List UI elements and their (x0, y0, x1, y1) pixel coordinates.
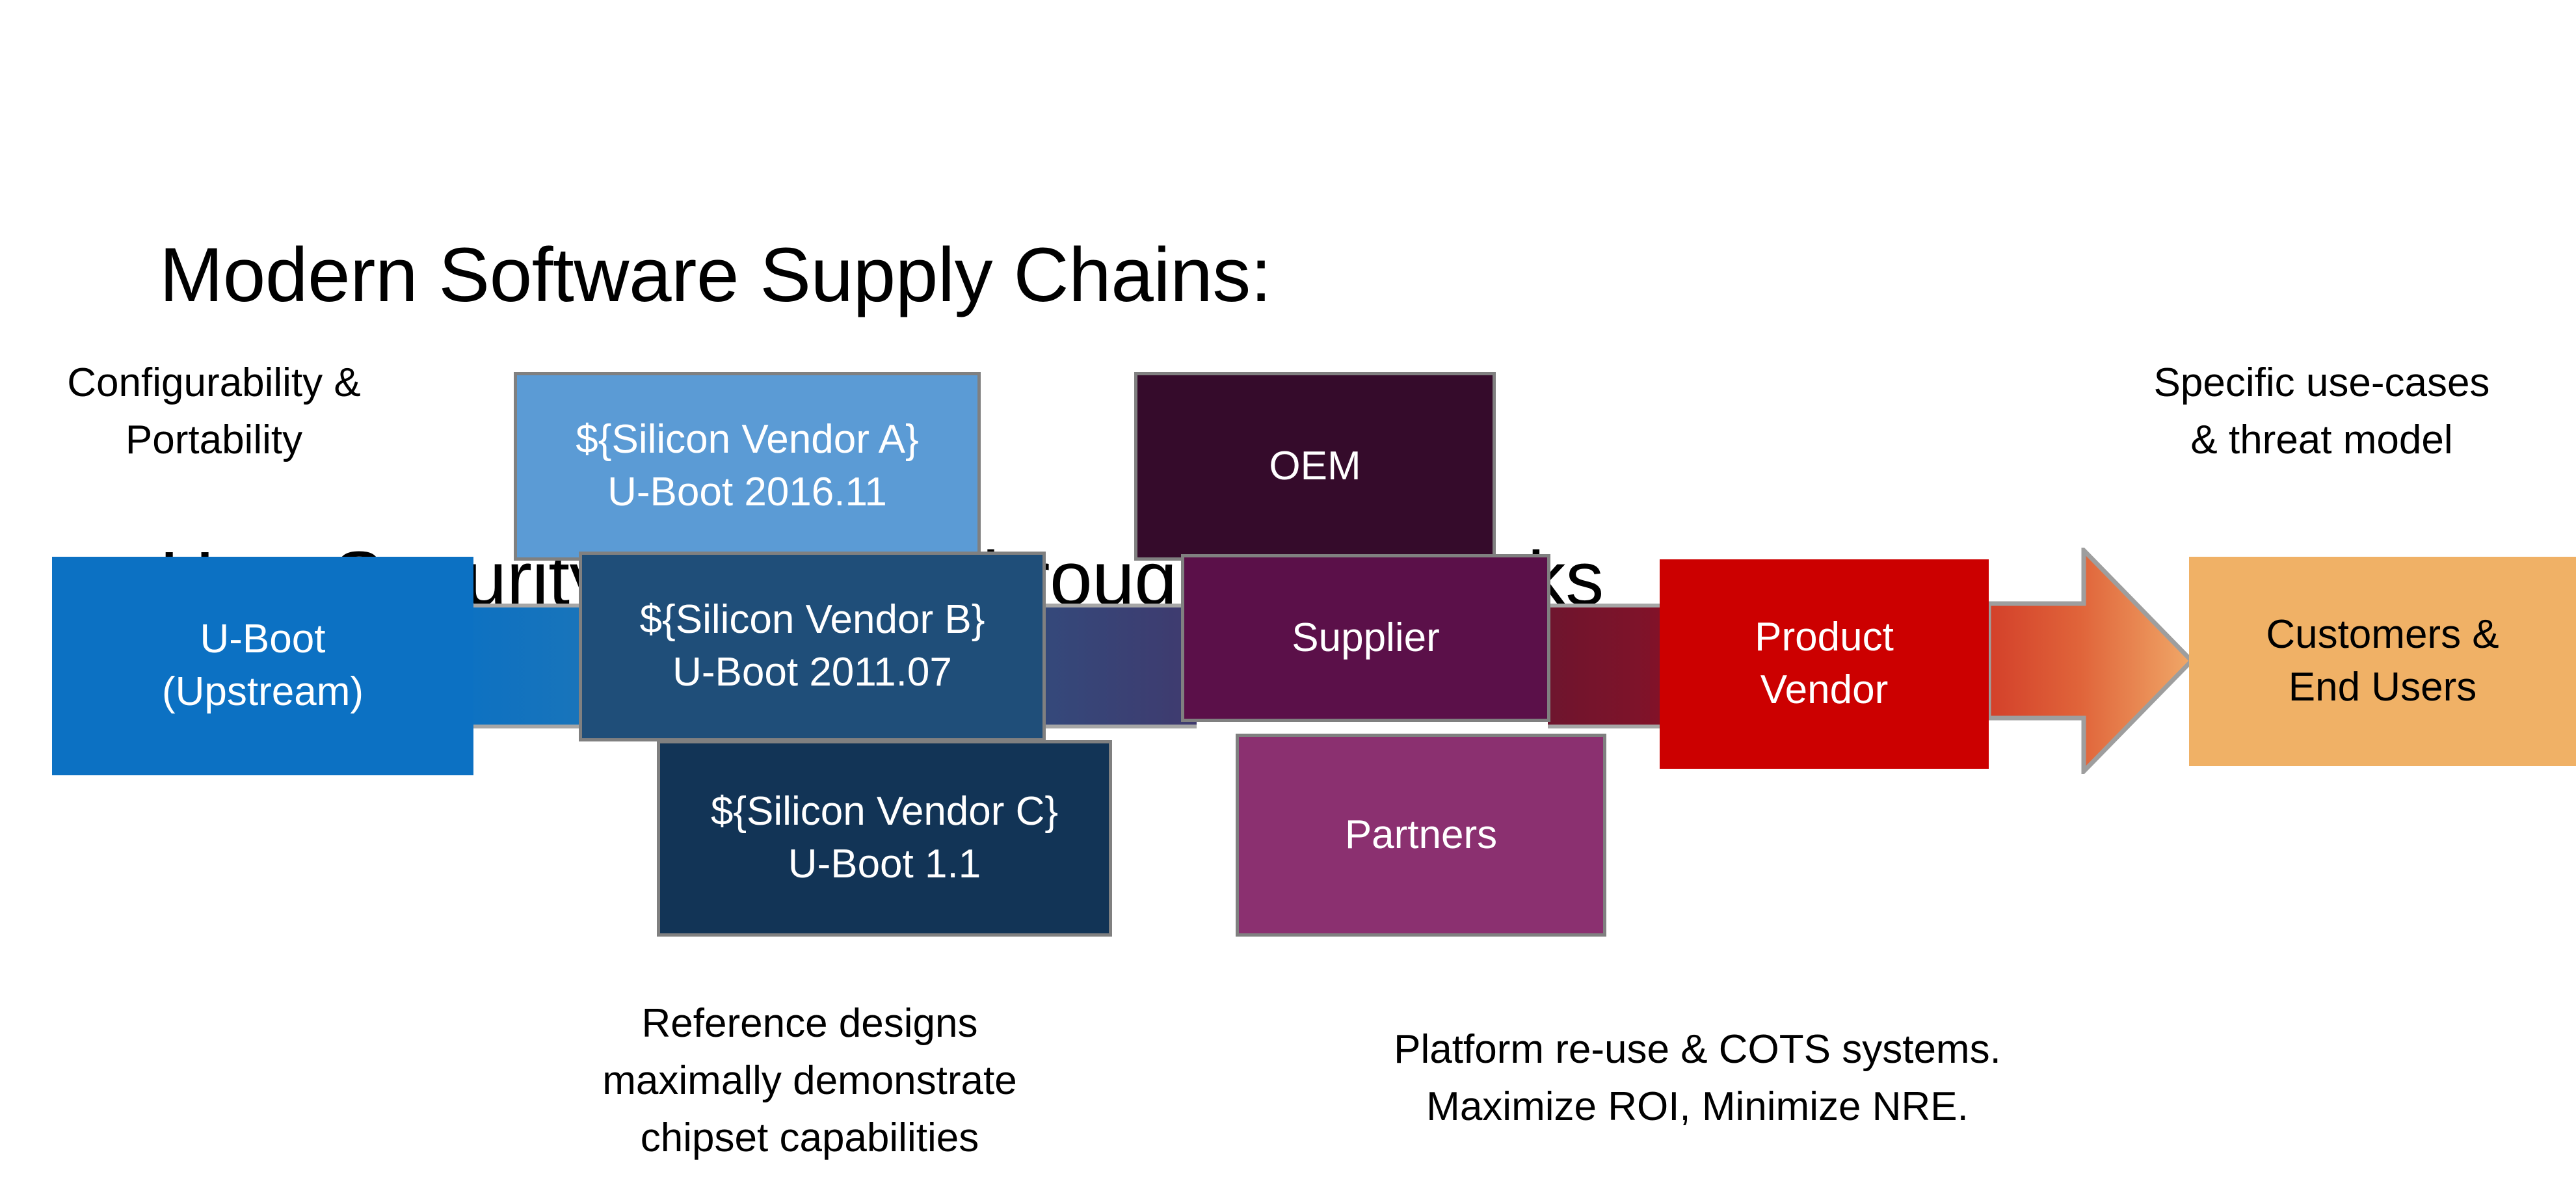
node-silicon-vendor-c[interactable]: ${Silicon Vendor C} U-Boot 1.1 (657, 740, 1112, 937)
annotation-reference-designs: Reference designs maximally demonstrate … (572, 995, 1047, 1167)
node-customers-end-users[interactable]: Customers & End Users (2189, 557, 2576, 766)
node-silicon-vendor-b[interactable]: ${Silicon Vendor B} U-Boot 2011.07 (579, 552, 1046, 741)
annotation-configurability-portability: Configurability & Portability (29, 354, 399, 469)
node-u-boot-upstream[interactable]: U-Boot (Upstream) (52, 557, 473, 775)
delivery-arrow-icon (1989, 548, 2194, 774)
node-oem[interactable]: OEM (1134, 372, 1496, 561)
node-partners[interactable]: Partners (1236, 734, 1606, 937)
connector-silicon-to-integrator (1041, 604, 1197, 728)
annotation-platform-reuse: Platform re-use & COTS systems. Maximize… (1314, 1021, 2081, 1136)
node-supplier[interactable]: Supplier (1181, 554, 1550, 722)
node-silicon-vendor-a[interactable]: ${Silicon Vendor A} U-Boot 2016.11 (514, 372, 981, 561)
node-product-vendor[interactable]: Product Vendor (1660, 559, 1989, 769)
page-title-line-1: Modern Software Supply Chains: (159, 225, 2110, 327)
annotation-use-cases-threat-model: Specific use-cases & threat model (2107, 354, 2536, 469)
